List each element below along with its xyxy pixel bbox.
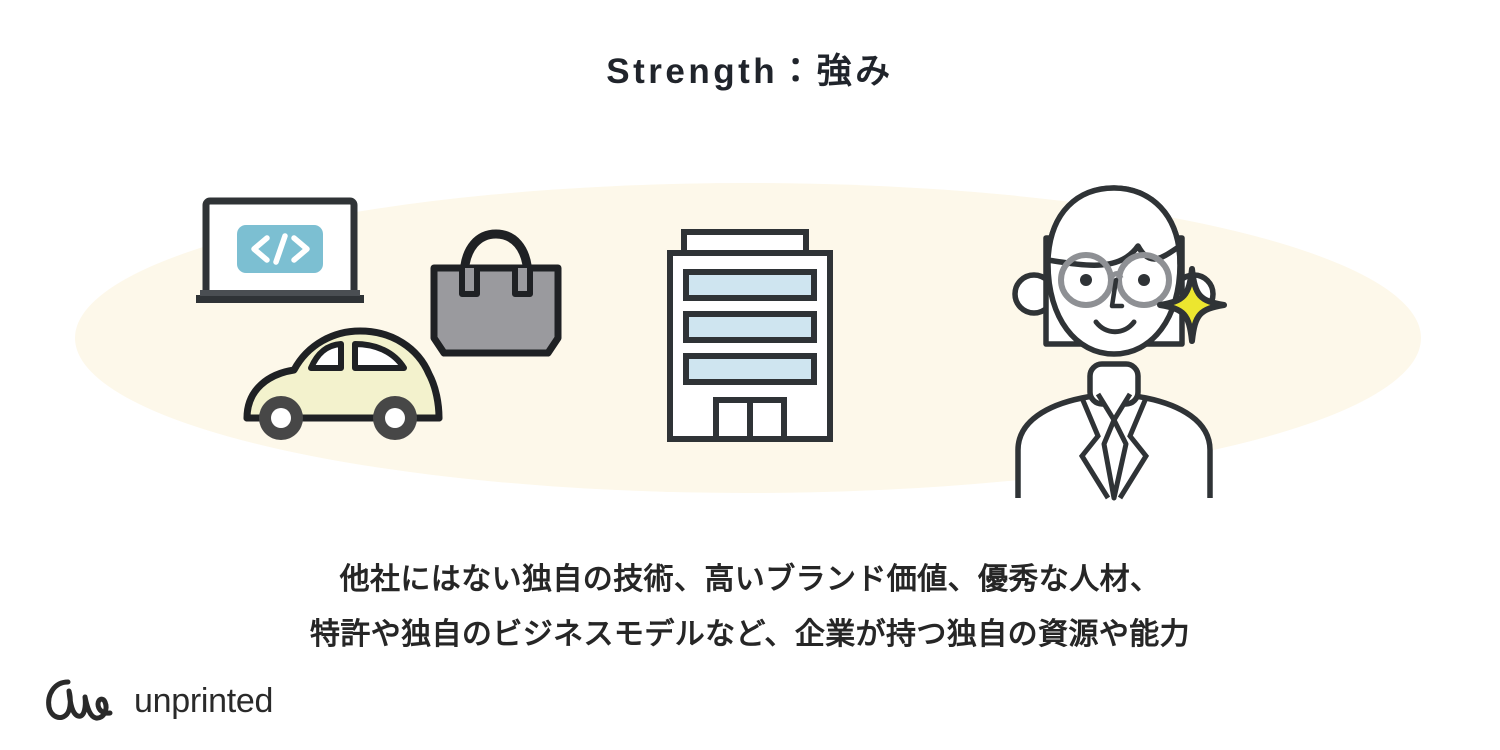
- page-title: Strength：強み: [0, 50, 1500, 94]
- description-line-1: 他社にはない独自の技術、高いブランド価値、優秀な人材、: [0, 552, 1500, 607]
- brand-name: unprinted: [134, 684, 273, 718]
- un-script-logo-icon: [44, 676, 120, 726]
- illustration-area: [0, 168, 1500, 518]
- office-building-icon: [670, 232, 830, 439]
- brand-logo: unprinted: [44, 676, 273, 726]
- description-block: 他社にはない独自の技術、高いブランド価値、優秀な人材、 特許や独自のビジネスモデ…: [0, 552, 1500, 662]
- description-line-2: 特許や独自のビジネスモデルなど、企業が持つ独自の資源や能力: [0, 607, 1500, 662]
- slide-canvas: Strength：強み: [0, 0, 1500, 750]
- illustration-svg: [0, 168, 1500, 518]
- laptop-code-icon: [196, 201, 364, 303]
